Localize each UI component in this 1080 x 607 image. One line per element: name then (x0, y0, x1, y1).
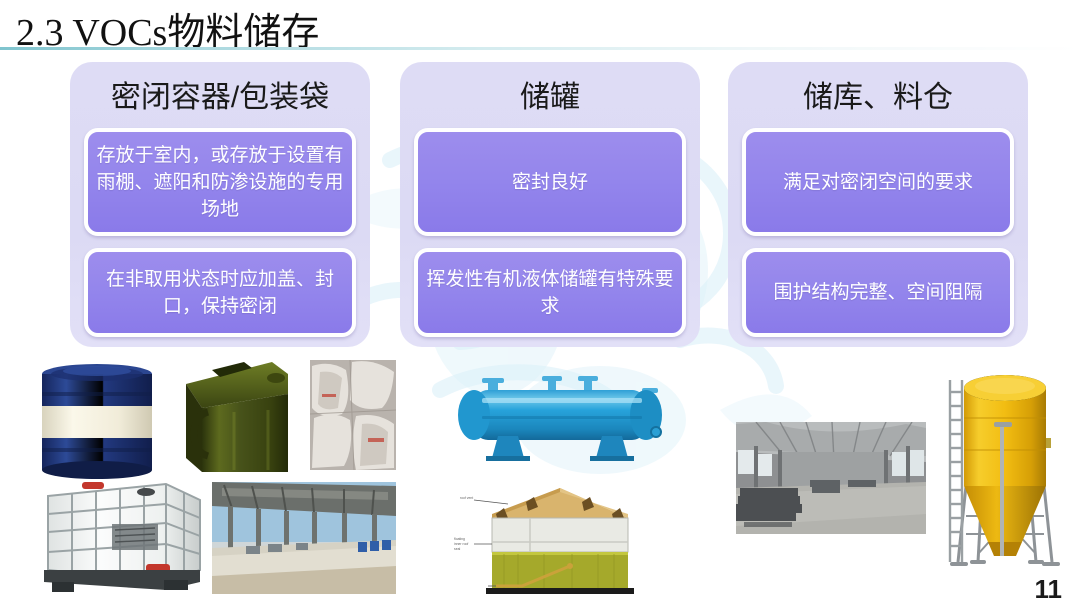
warehouse-interior-photo (736, 422, 926, 534)
illustration-row: roof vent floating inner roof seal (0, 350, 1080, 607)
covered-shed-photo (212, 482, 396, 594)
slide-page-number: 11 (1035, 574, 1063, 605)
svg-text:seal: seal (454, 547, 460, 551)
horizontal-pressure-tank-photo (452, 372, 668, 462)
category-panel-containers: 密闭容器/包装袋 存放于室内，或存放于设置有雨棚、遮阳和防渗设施的专用场地 在非… (70, 62, 370, 347)
slide-root: 2.3 VOCs物料储存 密闭容器/包装袋 存放于室内，或存放于设置有雨棚、遮阳… (0, 0, 1080, 607)
svg-text:roof vent: roof vent (460, 496, 473, 500)
svg-text:floating: floating (454, 537, 465, 541)
panel-item: 在非取用状态时应加盖、封口，保持密闭 (84, 248, 356, 337)
title-divider (0, 47, 1080, 50)
panel-item: 存放于室内，或存放于设置有雨棚、遮阳和防渗设施的专用场地 (84, 128, 356, 236)
storage-tank-section-diagram: roof vent floating inner roof seal (452, 474, 668, 596)
ibc-tote-photo (34, 478, 206, 596)
woven-bags-photo (310, 360, 396, 470)
category-panel-warehouse: 储库、料仓 满足对密闭空间的要求 围护结构完整、空间阻隔 (728, 62, 1028, 347)
panel-heading: 储库、料仓 (728, 80, 1028, 116)
slide-header: 2.3 VOCs物料储存 (0, 0, 1080, 52)
panel-item-list: 满足对密闭空间的要求 围护结构完整、空间阻隔 (742, 128, 1014, 337)
svg-text:inner roof: inner roof (454, 542, 468, 546)
panel-heading: 储罐 (400, 80, 700, 116)
yellow-silo-photo (936, 366, 1060, 582)
panel-item: 满足对密闭空间的要求 (742, 128, 1014, 236)
panel-item: 围护结构完整、空间阻隔 (742, 248, 1014, 337)
jerry-can-photo (172, 358, 292, 480)
panel-item-list: 存放于室内，或存放于设置有雨棚、遮阳和防渗设施的专用场地 在非取用状态时应加盖、… (84, 128, 356, 337)
panel-heading: 密闭容器/包装袋 (70, 80, 370, 116)
steel-drum-photo (36, 362, 158, 482)
panel-item-list: 密封良好 挥发性有机液体储罐有特殊要求 (414, 128, 686, 337)
category-panel-tanks: 储罐 密封良好 挥发性有机液体储罐有特殊要求 (400, 62, 700, 347)
panel-item: 密封良好 (414, 128, 686, 236)
panel-item: 挥发性有机液体储罐有特殊要求 (414, 248, 686, 337)
